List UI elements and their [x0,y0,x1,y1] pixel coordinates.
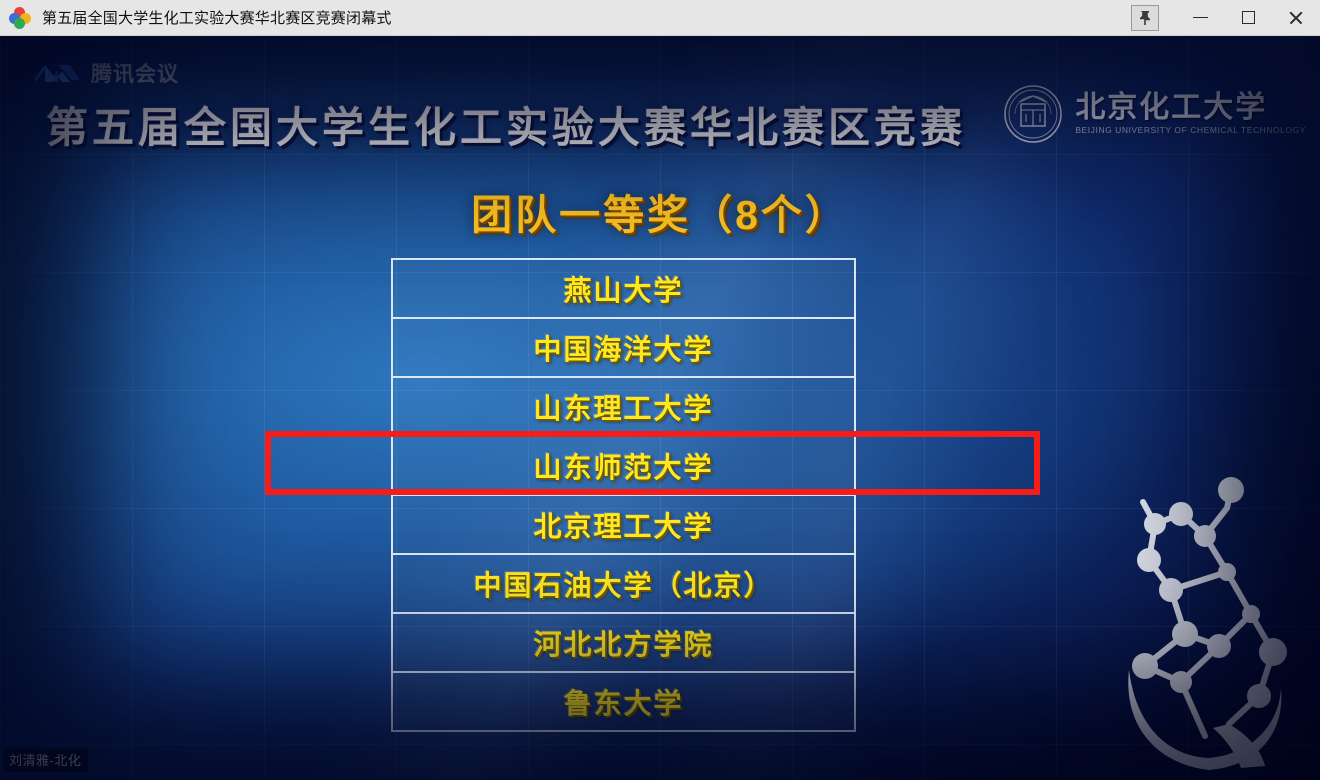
winner-name: 河北北方学院 [533,623,713,663]
tencent-meeting-icon [9,7,31,29]
winner-name: 鲁东大学 [563,682,683,722]
window-titlebar: 第五届全国大学生化工实验大赛华北赛区竞赛闭幕式 [0,0,1320,36]
tencent-meeting-watermark-label: 腾讯会议 [91,58,179,88]
maximize-icon [1242,11,1255,24]
window-title: 第五届全国大学生化工实验大赛华北赛区竞赛闭幕式 [42,7,392,28]
window-controls [1128,0,1320,36]
maximize-button[interactable] [1224,0,1272,36]
slide-headline: 第五届全国大学生化工实验大赛华北赛区竞赛 [46,94,1076,155]
winner-name: 山东师范大学 [533,446,713,486]
pin-glyph [1138,10,1152,26]
table-row: 河北北方学院 [393,614,854,673]
winner-name: 山东理工大学 [533,387,713,427]
winner-name: 燕山大学 [563,269,683,309]
table-row: 中国海洋大学 [393,319,854,378]
pin-on-top-button[interactable] [1128,0,1176,36]
university-name-en: BEIJING UNIVERSITY OF CHEMICAL TECHNOLOG… [1075,125,1306,135]
table-row-highlighted: 山东师范大学 [393,437,854,496]
winner-name: 中国石油大学（北京） [473,564,773,604]
minimize-icon [1193,17,1208,19]
close-icon [1288,10,1304,26]
university-name-cn: 北京化工大学 [1075,93,1306,123]
buct-seal-icon [1003,84,1063,144]
university-logo: 北京化工大学 BEIJING UNIVERSITY OF CHEMICAL TE… [1003,84,1306,144]
tencent-meeting-logo [32,60,84,87]
tencent-meeting-watermark: 腾讯会议 [32,58,179,88]
winner-name: 北京理工大学 [533,505,713,545]
molecule-structure-icon [1109,474,1314,774]
table-row: 鲁东大学 [393,673,854,732]
minimize-button[interactable] [1176,0,1224,36]
table-row: 中国石油大学（北京） [393,555,854,614]
presentation-stage[interactable]: 腾讯会议 第五届全国大学生化工实验大赛华北赛区竞赛 北京化工大学 BEIJING… [0,36,1320,780]
winner-table: 燕山大学 中国海洋大学 山东理工大学 山东师范大学 北京理工大学 中国石油大学（… [391,258,856,732]
award-title: 团队一等奖（8个） [0,181,1320,241]
university-name-block: 北京化工大学 BEIJING UNIVERSITY OF CHEMICAL TE… [1075,93,1306,135]
winner-name: 中国海洋大学 [533,328,713,368]
pin-icon [1131,5,1159,31]
table-row: 燕山大学 [393,260,854,319]
table-row: 山东理工大学 [393,378,854,437]
presenter-name-label: 刘清雅-北化 [4,748,88,772]
table-row: 北京理工大学 [393,496,854,555]
close-button[interactable] [1272,0,1320,36]
